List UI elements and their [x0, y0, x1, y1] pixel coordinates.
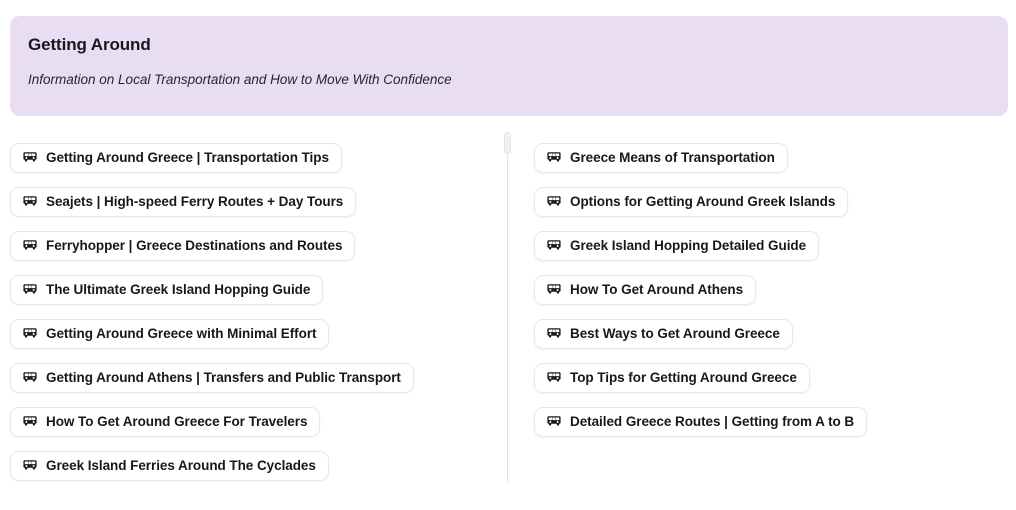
link-chip[interactable]: How To Get Around Athens	[534, 275, 756, 305]
link-chip[interactable]: Greek Island Ferries Around The Cyclades	[10, 451, 329, 481]
link-chip[interactable]: Greece Means of Transportation	[534, 143, 788, 173]
link-columns-container: Getting Around Greece | Transportation T…	[0, 134, 1016, 494]
divider-resize-handle[interactable]	[504, 132, 511, 154]
link-chip-label: Greek Island Hopping Detailed Guide	[570, 238, 806, 254]
link-chip[interactable]: Greek Island Hopping Detailed Guide	[534, 231, 819, 261]
page-title: Getting Around	[28, 34, 990, 56]
link-chip-label: Greece Means of Transportation	[570, 150, 775, 166]
minibus-icon	[22, 414, 38, 430]
link-chip[interactable]: The Ultimate Greek Island Hopping Guide	[10, 275, 323, 305]
minibus-icon	[546, 282, 562, 298]
link-chip[interactable]: Ferryhopper | Greece Destinations and Ro…	[10, 231, 355, 261]
link-chip-label: Best Ways to Get Around Greece	[570, 326, 780, 342]
divider-line	[507, 134, 508, 482]
minibus-icon	[22, 150, 38, 166]
link-chip-label: Seajets | High-speed Ferry Routes + Day …	[46, 194, 343, 210]
minibus-icon	[546, 414, 562, 430]
link-chip-label: Getting Around Greece | Transportation T…	[46, 150, 329, 166]
minibus-icon	[22, 194, 38, 210]
link-chip-label: Top Tips for Getting Around Greece	[570, 370, 797, 386]
link-chip-label: Getting Around Athens | Transfers and Pu…	[46, 370, 401, 386]
link-chip-label: Detailed Greece Routes | Getting from A …	[570, 414, 854, 430]
link-chip-label: Ferryhopper | Greece Destinations and Ro…	[46, 238, 342, 254]
minibus-icon	[22, 370, 38, 386]
link-chip-label: How To Get Around Athens	[570, 282, 743, 298]
minibus-icon	[22, 238, 38, 254]
minibus-icon	[546, 238, 562, 254]
column-divider	[498, 134, 518, 490]
link-chip[interactable]: Getting Around Athens | Transfers and Pu…	[10, 363, 414, 393]
link-chip[interactable]: Best Ways to Get Around Greece	[534, 319, 793, 349]
link-chip[interactable]: Getting Around Greece | Transportation T…	[10, 143, 342, 173]
link-chip[interactable]: Seajets | High-speed Ferry Routes + Day …	[10, 187, 356, 217]
minibus-icon	[22, 458, 38, 474]
link-chip[interactable]: How To Get Around Greece For Travelers	[10, 407, 320, 437]
link-chip-label: Options for Getting Around Greek Islands	[570, 194, 835, 210]
section-header-banner: Getting Around Information on Local Tran…	[10, 16, 1008, 116]
link-chip[interactable]: Options for Getting Around Greek Islands	[534, 187, 848, 217]
minibus-icon	[546, 150, 562, 166]
link-column-left: Getting Around Greece | Transportation T…	[0, 134, 498, 481]
link-chip[interactable]: Detailed Greece Routes | Getting from A …	[534, 407, 867, 437]
link-chip-label: How To Get Around Greece For Travelers	[46, 414, 307, 430]
link-chip[interactable]: Top Tips for Getting Around Greece	[534, 363, 810, 393]
link-column-right: Greece Means of Transportation Options f…	[518, 134, 1016, 437]
link-chip-label: Greek Island Ferries Around The Cyclades	[46, 458, 316, 474]
link-chip-label: The Ultimate Greek Island Hopping Guide	[46, 282, 310, 298]
minibus-icon	[22, 326, 38, 342]
minibus-icon	[546, 326, 562, 342]
page-subtitle: Information on Local Transportation and …	[28, 70, 990, 90]
link-chip-label: Getting Around Greece with Minimal Effor…	[46, 326, 316, 342]
minibus-icon	[546, 370, 562, 386]
link-chip[interactable]: Getting Around Greece with Minimal Effor…	[10, 319, 329, 349]
minibus-icon	[546, 194, 562, 210]
minibus-icon	[22, 282, 38, 298]
